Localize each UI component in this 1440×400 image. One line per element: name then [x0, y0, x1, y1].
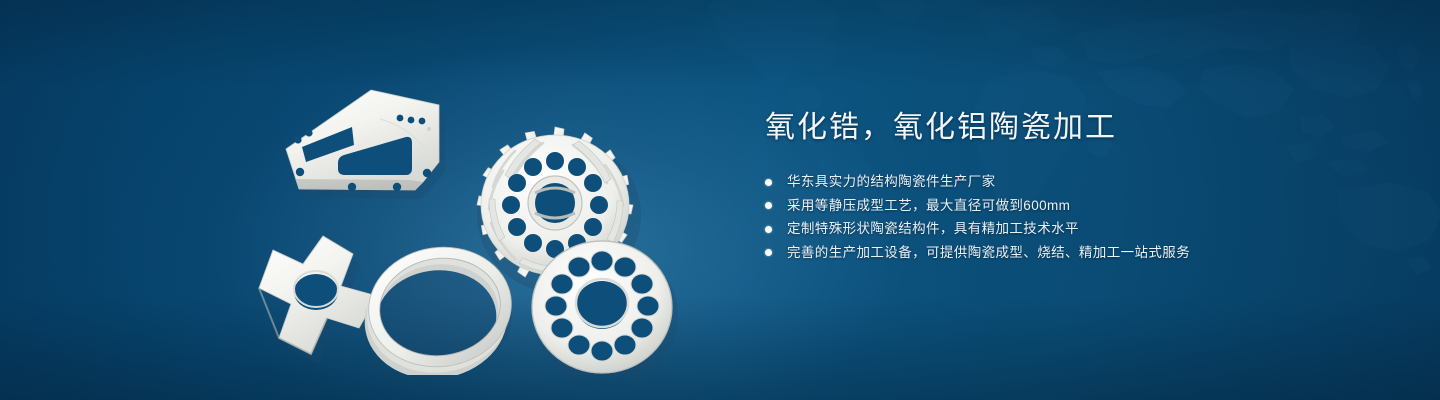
banner-copy: 氧化锆，氧化铝陶瓷加工 华东具实力的结构陶瓷件生产厂家 采用等静压成型工艺，最大…: [765, 108, 1365, 264]
bullet-dot-icon: [765, 202, 772, 209]
list-item: 华东具实力的结构陶瓷件生产厂家: [765, 170, 1365, 194]
bullet-dot-icon: [765, 226, 772, 233]
ceramic-cross-plate: [259, 236, 385, 364]
bullet-dot-icon: [765, 179, 772, 186]
list-item: 采用等静压成型工艺，最大直径可做到600mm: [765, 194, 1365, 218]
list-item-label: 采用等静压成型工艺，最大直径可做到600mm: [787, 198, 1070, 213]
list-item-label: 定制特殊形状陶瓷结构件，具有精加工技术水平: [787, 221, 1079, 236]
feature-list: 华东具实力的结构陶瓷件生产厂家 采用等静压成型工艺，最大直径可做到600mm 定…: [765, 170, 1365, 264]
list-item-label: 完善的生产加工设备，可提供陶瓷成型、烧结、精加工一站式服务: [787, 245, 1190, 260]
list-item: 定制特殊形状陶瓷结构件，具有精加工技术水平: [765, 217, 1365, 241]
list-item-label: 华东具实力的结构陶瓷件生产厂家: [787, 174, 996, 189]
ceramic-machined-plate: [286, 90, 445, 199]
ceramic-perforated-disc: [532, 241, 678, 375]
bullet-dot-icon: [765, 249, 772, 256]
hero-banner: 氧化锆，氧化铝陶瓷加工 华东具实力的结构陶瓷件生产厂家 采用等静压成型工艺，最大…: [0, 0, 1440, 400]
product-photo-cluster: [230, 45, 700, 375]
list-item: 完善的生产加工设备，可提供陶瓷成型、烧结、精加工一站式服务: [765, 241, 1365, 265]
page-title: 氧化锆，氧化铝陶瓷加工: [765, 108, 1365, 148]
